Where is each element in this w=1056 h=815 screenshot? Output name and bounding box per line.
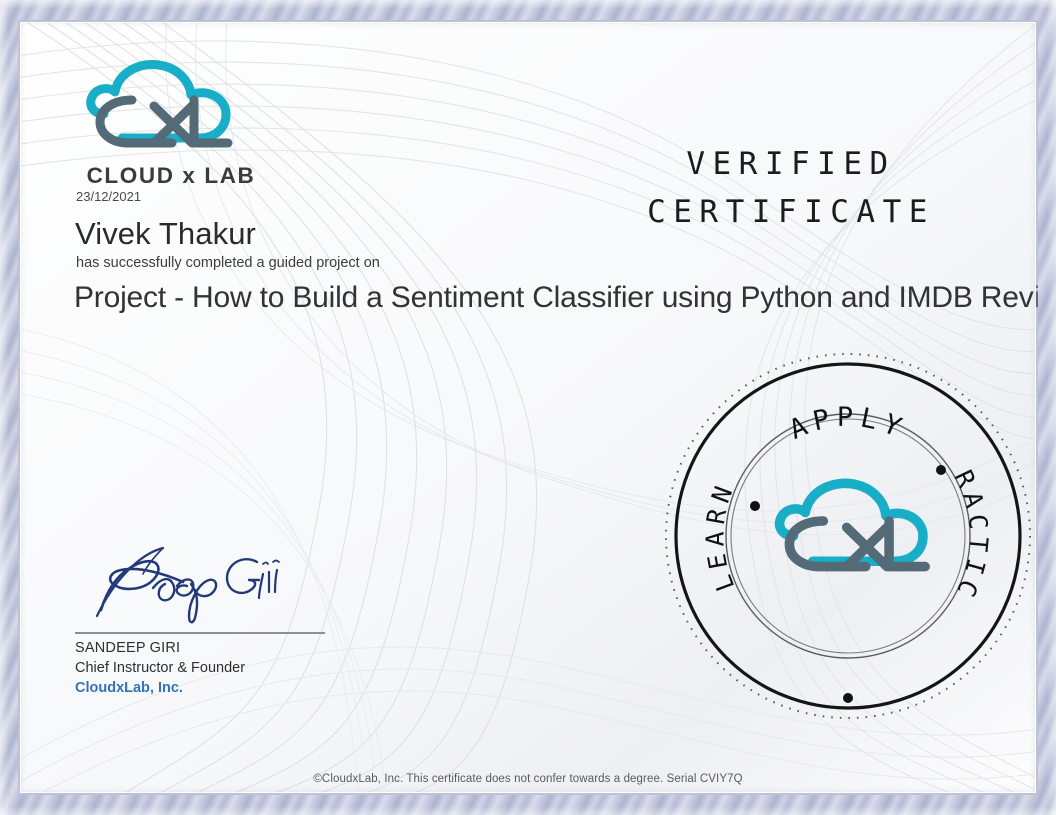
seal-inner-ring-inner xyxy=(731,419,965,653)
course-title: Project - How to Build a Sentiment Class… xyxy=(74,281,1056,315)
heading-line-verified: VERIFIED xyxy=(581,140,1001,188)
seal-word-apply: APPLY xyxy=(785,402,911,446)
signer-company-link[interactable]: CloudxLab, Inc. xyxy=(75,680,183,696)
seal-graphic: APPLY PRACTICE LEARN xyxy=(660,348,1036,724)
issue-date: 23/12/2021 xyxy=(76,189,141,204)
verified-certificate-heading: VERIFIED CERTIFICATE xyxy=(581,140,1001,236)
heading-line-certificate: CERTIFICATE xyxy=(581,188,1001,236)
seal-dot-bottom xyxy=(843,693,853,703)
signer-title: Chief Instructor & Founder xyxy=(75,660,375,676)
signature-block: SANDEEP GIRI Chief Instructor & Founder … xyxy=(75,540,375,697)
seal-cxl-cloud-logo-icon xyxy=(780,483,925,566)
seal-dot-left xyxy=(750,501,760,511)
footer-disclaimer: ©CloudxLab, Inc. This certificate does n… xyxy=(0,773,1056,785)
completion-statement: has successfully completed a guided proj… xyxy=(76,255,380,271)
seal-dot-top-right xyxy=(936,465,946,475)
signature-rule xyxy=(75,632,325,634)
seal-inner-ring-outer xyxy=(726,414,970,658)
seal-word-learn: LEARN xyxy=(701,477,741,595)
brand-wordmark: CLOUD x LAB xyxy=(76,163,266,189)
brand-logo: CLOUD x LAB xyxy=(76,50,266,189)
signer-name: SANDEEP GIRI xyxy=(75,640,375,656)
certificate-document: CLOUD x LAB VERIFIED CERTIFICATE 23/12/2… xyxy=(0,0,1056,815)
verification-seal: APPLY PRACTICE LEARN xyxy=(660,348,1036,724)
cxl-cloud-logo-icon xyxy=(76,50,266,160)
recipient-name: Vivek Thakur xyxy=(75,216,256,252)
handwritten-signature-icon xyxy=(87,540,317,630)
